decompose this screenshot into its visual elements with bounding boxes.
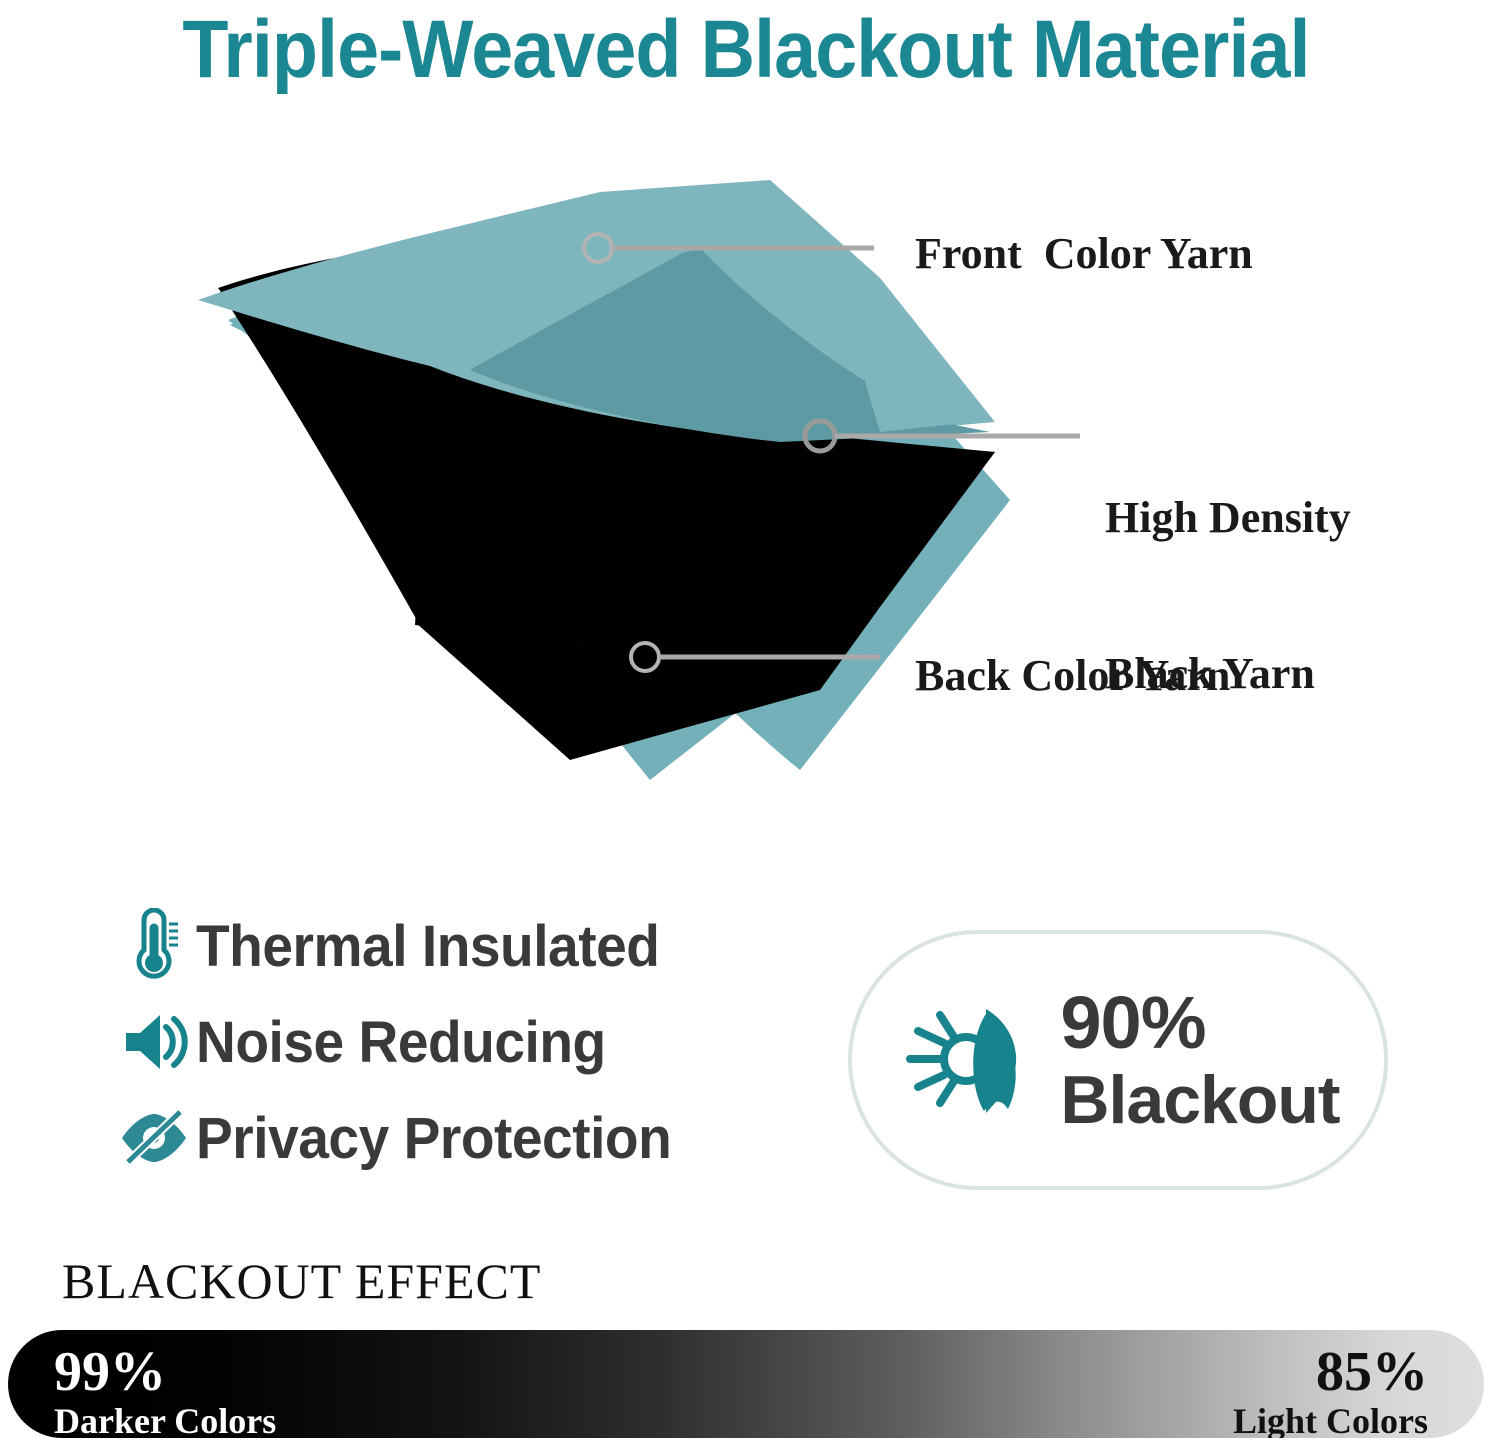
bar-left-percent: 99% bbox=[54, 1344, 276, 1401]
bar-left-value: 99% Darker Colors bbox=[54, 1344, 276, 1438]
page-title: Triple-Weaved Blackout Material bbox=[60, 0, 1433, 100]
label-back-color-yarn: Back Color Yarn bbox=[915, 650, 1230, 702]
feature-label: Thermal Insulated bbox=[196, 913, 659, 980]
bar-right-percent: 85% bbox=[1233, 1344, 1428, 1401]
feature-list: Thermal Insulated Noise Reducing bbox=[112, 898, 772, 1186]
blackout-badge: 90% Blackout bbox=[848, 930, 1388, 1190]
label-line-1: High Density bbox=[1105, 492, 1351, 544]
label-front-color-yarn: Front Color Yarn bbox=[915, 228, 1253, 280]
feature-label: Privacy Protection bbox=[196, 1105, 671, 1172]
eye-slash-icon bbox=[112, 1110, 196, 1166]
feature-label: Noise Reducing bbox=[196, 1009, 606, 1076]
blackout-effect-gradient-bar: 99% Darker Colors 85% Light Colors bbox=[8, 1330, 1484, 1438]
infographic-page: Triple-Weaved Blackout Material bbox=[0, 0, 1492, 1441]
thermometer-icon bbox=[112, 908, 196, 984]
feature-noise-reducing: Noise Reducing bbox=[112, 994, 772, 1090]
bar-left-sub: Darker Colors bbox=[54, 1403, 276, 1438]
badge-percent: 90% bbox=[1060, 986, 1339, 1060]
feature-thermal-insulated: Thermal Insulated bbox=[112, 898, 772, 994]
speaker-sound-icon bbox=[112, 1011, 196, 1073]
badge-text-group: 90% Blackout bbox=[1060, 986, 1339, 1134]
label-high-density-black-yarn: High Density Black Yarn bbox=[1105, 388, 1351, 803]
feature-privacy-protection: Privacy Protection bbox=[112, 1090, 772, 1186]
badge-word: Blackout bbox=[1060, 1066, 1339, 1134]
sun-blocked-icon bbox=[896, 985, 1046, 1135]
bar-right-value: 85% Light Colors bbox=[1233, 1344, 1428, 1438]
bar-right-sub: Light Colors bbox=[1233, 1403, 1428, 1438]
blackout-effect-heading: BLACKOUT EFFECT bbox=[62, 1252, 541, 1310]
